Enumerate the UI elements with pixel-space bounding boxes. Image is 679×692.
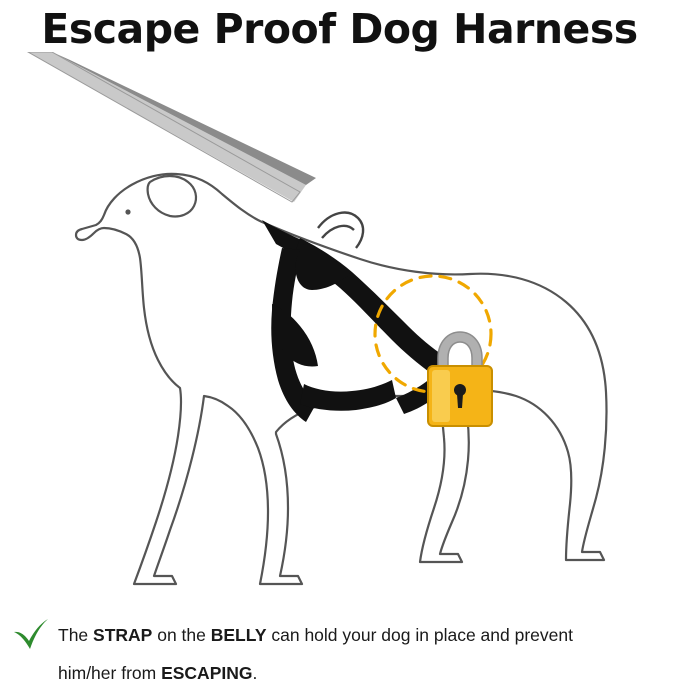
caption-area: The STRAP on the BELLY can hold your dog… bbox=[0, 608, 679, 691]
caption-line1-part2: on the bbox=[152, 625, 210, 645]
page-title: Escape Proof Dog Harness bbox=[0, 4, 679, 54]
caption-line2-part1: him/her from bbox=[58, 663, 161, 683]
caption-line1-part3: can hold your dog in place and prevent bbox=[267, 625, 573, 645]
caption-line1-part1: The bbox=[58, 625, 93, 645]
dog-outline bbox=[76, 174, 607, 584]
harness-top-handle bbox=[318, 213, 363, 248]
product-infographic: Escape Proof Dog Harness bbox=[0, 0, 679, 691]
green-check-icon bbox=[12, 618, 50, 654]
caption-line2-part2: . bbox=[252, 663, 257, 683]
dog-harness-illustration bbox=[0, 52, 679, 600]
caption-bold-belly: BELLY bbox=[211, 625, 267, 645]
caption-bold-escaping: ESCAPING bbox=[161, 663, 252, 683]
caption-bold-strap: STRAP bbox=[93, 625, 152, 645]
caption-text: The STRAP on the BELLY can hold your dog… bbox=[58, 616, 670, 692]
